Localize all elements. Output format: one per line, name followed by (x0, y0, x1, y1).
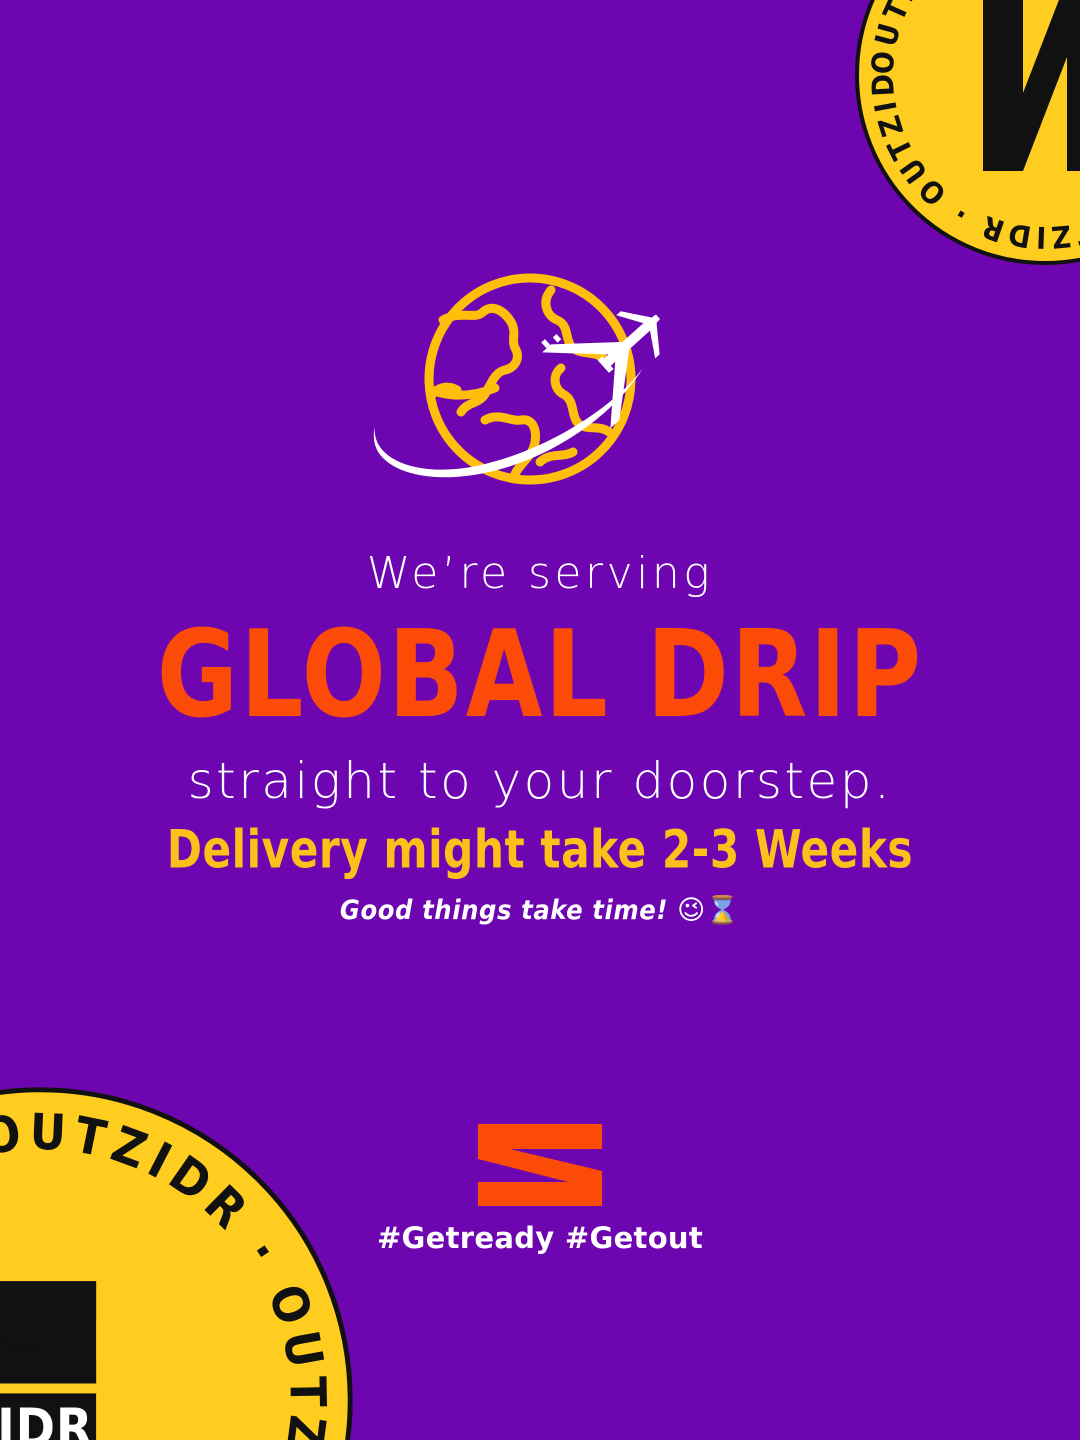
hashtags-text: #Getready #Getout (0, 1224, 1080, 1253)
z-logo (478, 1124, 602, 1206)
outzidr-stamp-top-right: OUTZIDR · OUTZIDR · OUTZIDR · OUTZIDR · … (845, 0, 1080, 275)
delivery-headline: Delivery might take 2-3 Weeks (0, 824, 1080, 877)
poster-canvas: OUTZIDR · OUTZIDR · OUTZIDR · OUTZIDR · … (0, 0, 1080, 1440)
stamp-inner-logo: OUTZIDR (0, 1281, 96, 1440)
eyebrow-text: We’re serving (0, 552, 1080, 596)
delivery-notice-block: Delivery might take 2-3 Weeks Good thing… (0, 824, 1080, 924)
footer-brand-block: #Getready #Getout (0, 1124, 1080, 1253)
main-copy-block: We’re serving GLOBAL DRIP straight to yo… (0, 552, 1080, 806)
wink-hourglass-emoji: 😉⌛ (677, 895, 740, 926)
stamp-wordmark: OUTZIDR (0, 1398, 93, 1440)
delivery-note: Good things take time! 😉⌛ (0, 897, 1080, 924)
subline-text: straight to your doorstep. (0, 756, 1080, 806)
page-title: GLOBAL DRIP (0, 614, 1080, 735)
delivery-note-text: Good things take time! (340, 895, 668, 926)
airplane-icon (537, 273, 692, 428)
globe-airplane-icon (365, 272, 715, 512)
